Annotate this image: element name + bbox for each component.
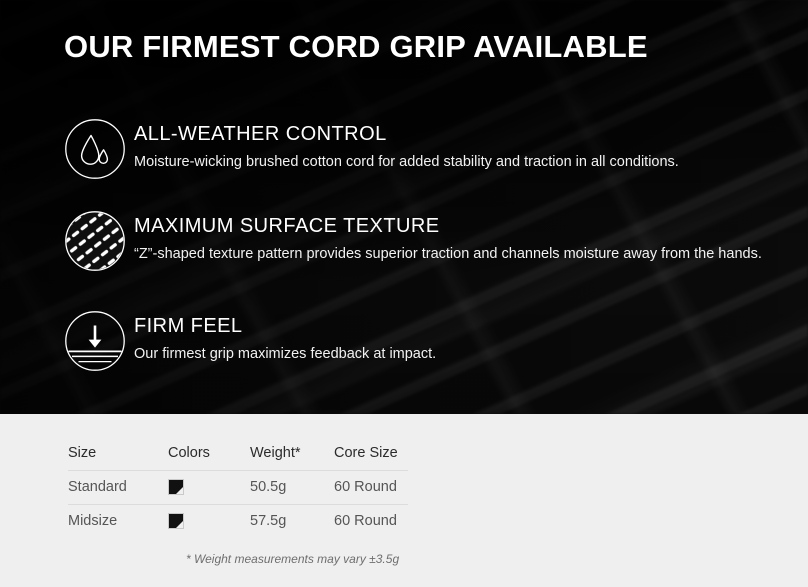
spec-table-body: Standard 50.5g 60 Round Midsize 57.5g 60… — [68, 470, 408, 538]
feature-item-all-weather-control: ALL-WEATHER CONTROL Moisture-wicking bru… — [64, 118, 679, 180]
feature-title: FIRM FEEL — [134, 315, 436, 338]
cell-colors — [168, 470, 250, 504]
feature-description: Our firmest grip maximizes feedback at i… — [134, 345, 436, 364]
cell-colors — [168, 504, 250, 538]
table-row: Midsize 57.5g 60 Round — [68, 504, 408, 538]
column-header-core-size: Core Size — [334, 436, 408, 470]
weight-disclaimer-note: * Weight measurements may vary ±3.5g — [186, 552, 399, 566]
spec-table: Size Colors Weight* Core Size Standard 5… — [68, 436, 408, 538]
table-header-row: Size Colors Weight* Core Size — [68, 436, 408, 470]
column-header-size: Size — [68, 436, 168, 470]
black-color-swatch — [168, 479, 184, 495]
spec-table-head: Size Colors Weight* Core Size — [68, 436, 408, 470]
feature-description: “Z”-shaped texture pattern provides supe… — [134, 245, 762, 264]
feature-text-block: ALL-WEATHER CONTROL Moisture-wicking bru… — [134, 118, 679, 172]
cell-weight: 57.5g — [250, 504, 334, 538]
feature-description: Moisture-wicking brushed cotton cord for… — [134, 153, 679, 172]
spec-section: Size Colors Weight* Core Size Standard 5… — [0, 414, 808, 587]
cell-size: Midsize — [68, 504, 168, 538]
feature-text-block: MAXIMUM SURFACE TEXTURE “Z”-shaped textu… — [134, 210, 762, 264]
column-header-colors: Colors — [168, 436, 250, 470]
feature-text-block: FIRM FEEL Our firmest grip maximizes fee… — [134, 310, 436, 364]
page-title: OUR FIRMEST CORD GRIP AVAILABLE — [64, 29, 648, 65]
product-feature-panel: OUR FIRMEST CORD GRIP AVAILABLE ALL-WEAT… — [0, 0, 808, 587]
feature-item-maximum-surface-texture: MAXIMUM SURFACE TEXTURE “Z”-shaped textu… — [64, 210, 762, 272]
cell-weight: 50.5g — [250, 470, 334, 504]
water-droplet-icon — [64, 118, 126, 180]
cell-core-size: 60 Round — [334, 470, 408, 504]
black-color-swatch — [168, 513, 184, 529]
feature-title: MAXIMUM SURFACE TEXTURE — [134, 215, 762, 238]
down-arrow-lines-icon — [64, 310, 126, 372]
hero-section: OUR FIRMEST CORD GRIP AVAILABLE ALL-WEAT… — [0, 0, 808, 414]
diagonal-texture-pattern-icon — [64, 210, 126, 272]
cell-core-size: 60 Round — [334, 504, 408, 538]
table-row: Standard 50.5g 60 Round — [68, 470, 408, 504]
feature-item-firm-feel: FIRM FEEL Our firmest grip maximizes fee… — [64, 310, 436, 372]
feature-title: ALL-WEATHER CONTROL — [134, 123, 679, 146]
column-header-weight: Weight* — [250, 436, 334, 470]
cell-size: Standard — [68, 470, 168, 504]
